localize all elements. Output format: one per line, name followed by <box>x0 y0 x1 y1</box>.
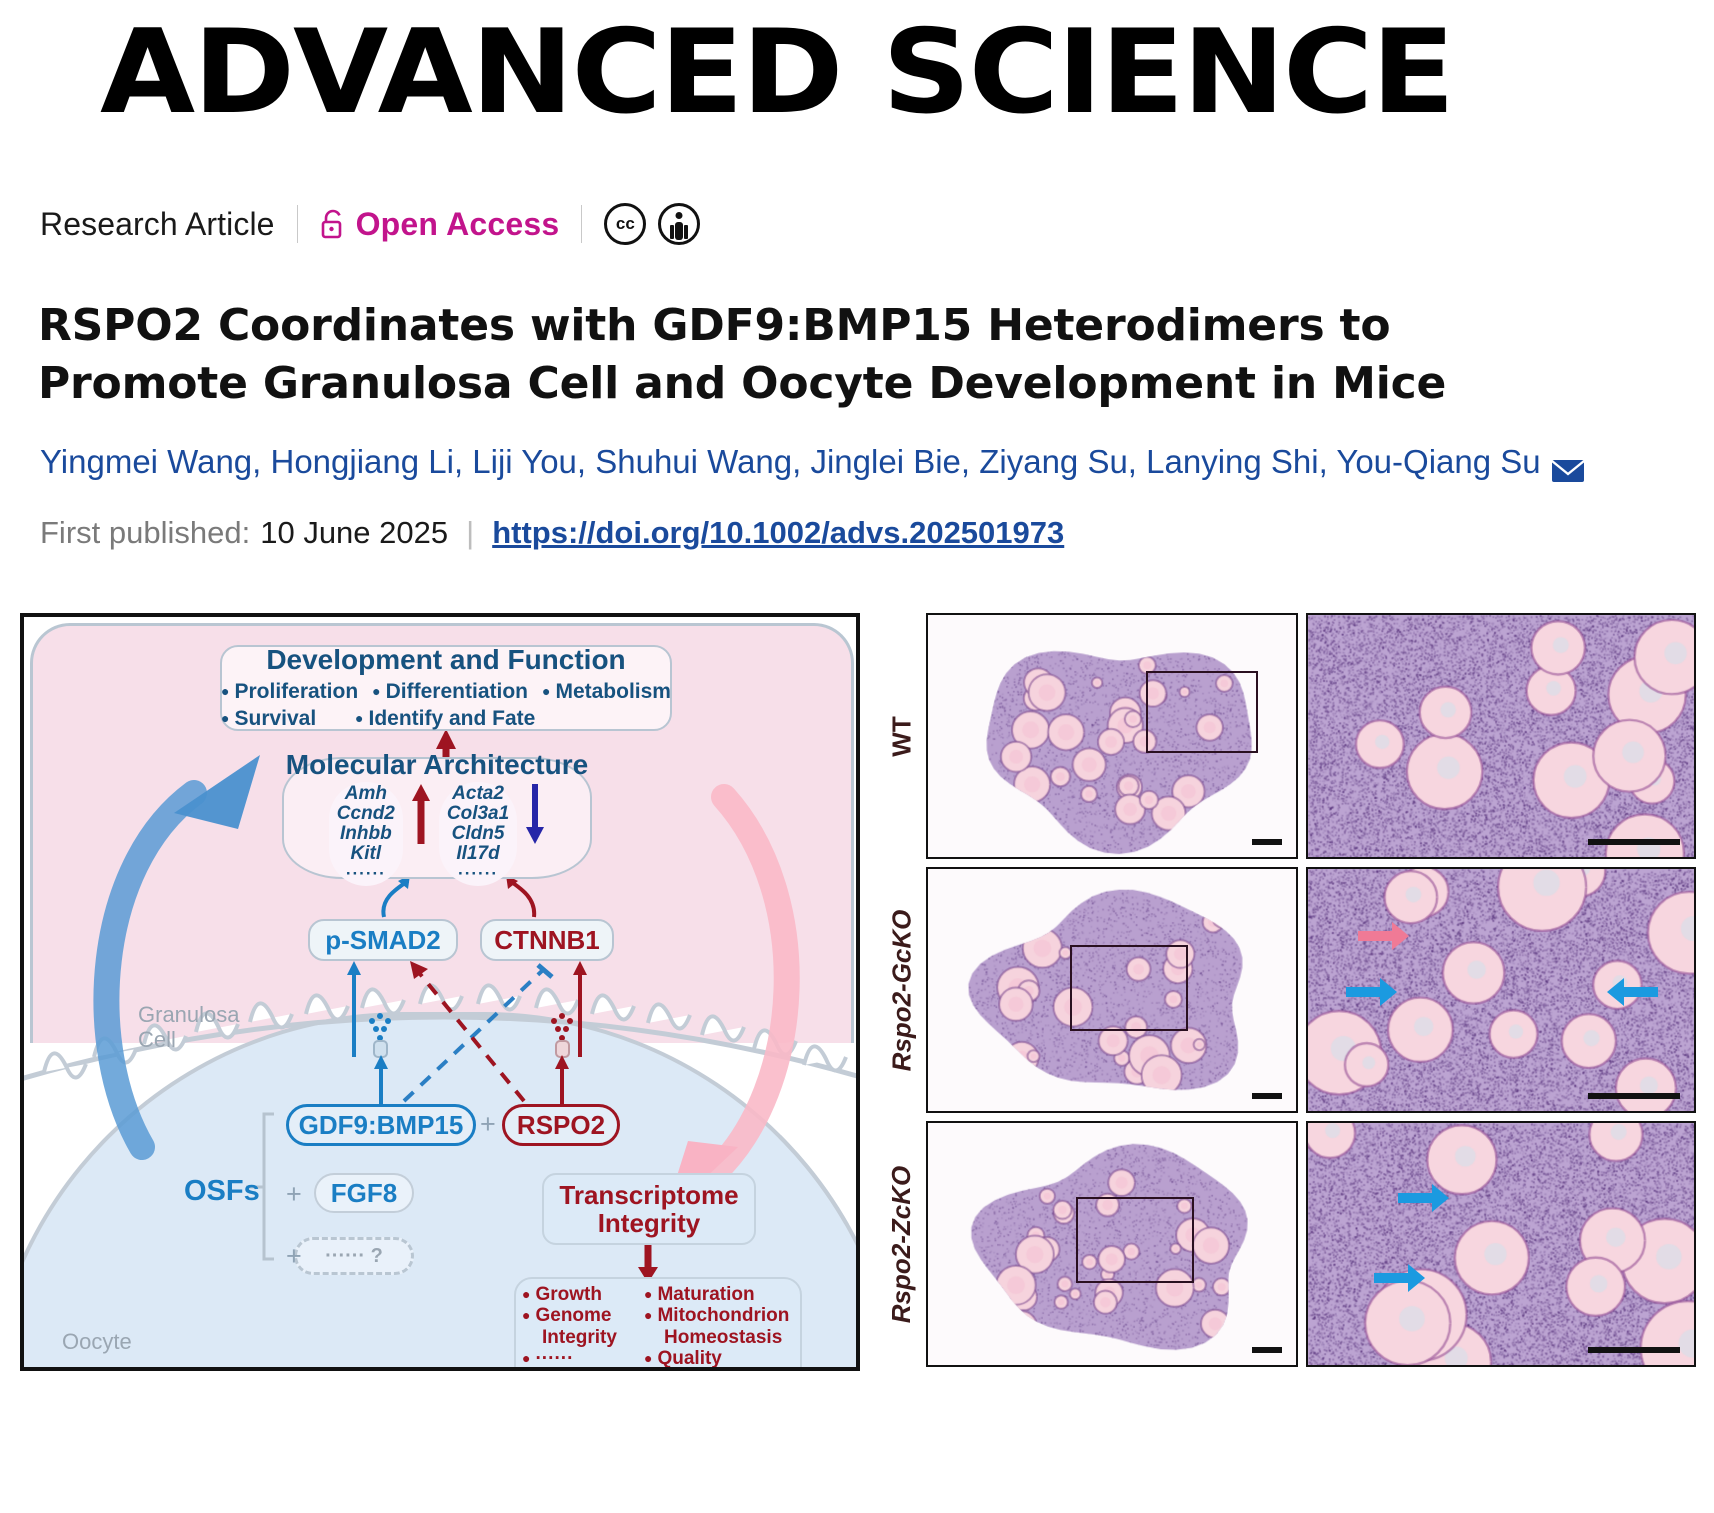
outcome-item: Mitochondrion <box>644 1305 794 1326</box>
gene-name: Kitl <box>351 844 382 864</box>
transcriptome-heading-line2: Integrity <box>598 1209 701 1237</box>
gene-name: Il17d <box>456 844 499 864</box>
histology-row-gcko: Rspo2-GcKO <box>882 867 1696 1113</box>
meta-divider-1 <box>297 205 298 243</box>
pub-divider: | <box>466 515 474 551</box>
development-item: Metabolism <box>542 679 671 704</box>
pill-fgf8: FGF8 <box>314 1173 414 1213</box>
development-function-box: Development and Function Proliferation D… <box>220 645 672 731</box>
row-label-rspo2-zcko: Rspo2-ZcKO <box>882 1121 922 1367</box>
annotation-arrows <box>1308 1123 1696 1367</box>
histology-row-wt: WT <box>882 613 1696 859</box>
upregulated-gene-column: Amh Ccnd2 Inhbb Kitl ······ <box>329 782 403 887</box>
doi-link[interactable]: https://doi.org/10.1002/advs.202501973 <box>492 515 1064 551</box>
roi-box <box>1146 671 1258 753</box>
downregulated-gene-column: Acta2 Col3a1 Cldn5 Il17d ······ <box>439 782 517 887</box>
up-arrow-red-icon <box>411 782 431 846</box>
roi-box <box>1076 1197 1194 1283</box>
journal-masthead: ADVANCED SCIENCE <box>100 8 1440 138</box>
gene-columns: Amh Ccnd2 Inhbb Kitl ······ Acta2 Col3a1… <box>329 782 545 887</box>
meta-divider-2 <box>581 205 582 243</box>
row-label-text: WT <box>887 716 918 756</box>
granulosa-cell-label: Granulosa Cell <box>138 1002 240 1053</box>
outcome-item: Quality <box>644 1348 794 1369</box>
outcome-item: ······ <box>522 1348 640 1369</box>
ovary-section-gcko-high[interactable] <box>1306 867 1696 1113</box>
development-row-1: Proliferation Differentiation Metabolism <box>221 679 671 704</box>
pill-rspo2: RSPO2 <box>502 1104 620 1146</box>
plus-sign: + <box>480 1109 496 1140</box>
development-item: Identify and Fate <box>355 706 535 731</box>
development-row-2: Survival Identify and Fate <box>221 706 671 731</box>
row-label-wt: WT <box>882 613 922 859</box>
gene-name: Cldn5 <box>452 824 505 844</box>
first-published-label: First published: <box>40 515 250 551</box>
histology-image <box>1308 615 1694 857</box>
gene-name: Acta2 <box>452 784 504 804</box>
transcriptome-integrity-box: Transcriptome Integrity <box>542 1173 756 1245</box>
outcome-item: Genome <box>522 1305 640 1326</box>
histology-panel-grid: WT Rspo2-GcKO <box>882 613 1696 1371</box>
open-access-group[interactable]: Open Access <box>320 206 560 243</box>
open-access-label: Open Access <box>356 206 560 243</box>
envelope-icon[interactable] <box>1551 450 1585 474</box>
outcomes-grid: Growth Maturation Genome Mitochondrion I… <box>522 1284 794 1369</box>
scale-bar <box>1252 1347 1282 1353</box>
annotation-arrows <box>1308 869 1696 1113</box>
scale-bar <box>1252 839 1282 845</box>
gene-ellipsis: ······ <box>458 864 498 884</box>
development-list: Proliferation Differentiation Metabolism… <box>221 679 671 731</box>
creative-commons-icon: cc <box>604 203 646 245</box>
outcome-item: Homeostasis <box>644 1327 794 1348</box>
ovary-section-zcko-low[interactable] <box>926 1121 1298 1367</box>
row-label-rspo2-gcko: Rspo2-GcKO <box>882 867 922 1113</box>
development-item: Differentiation <box>372 679 528 704</box>
outcome-item: Growth <box>522 1284 640 1305</box>
journal-title: ADVANCED SCIENCE <box>100 15 1453 131</box>
page-title: RSPO2 Coordinates with GDF9:BMP15 Hetero… <box>38 297 1518 411</box>
ovary-section-zcko-high[interactable] <box>1306 1121 1696 1367</box>
scale-bar <box>1588 839 1680 845</box>
development-item: Proliferation <box>221 679 358 704</box>
gene-ellipsis: ······ <box>346 864 386 884</box>
author-names: Yingmei Wang, Hongjiang Li, Liji You, Sh… <box>40 440 1541 485</box>
pill-gdf9-bmp15: GDF9:BMP15 <box>286 1104 476 1146</box>
osfs-label: OSFs <box>184 1175 260 1208</box>
roi-box <box>1070 945 1188 1031</box>
creative-commons-by-icon <box>658 203 700 245</box>
scale-bar <box>1588 1347 1680 1353</box>
article-type-label: Research Article <box>40 206 275 243</box>
node-psmad2: p-SMAD2 <box>308 919 458 961</box>
plus-sign: + <box>286 1241 302 1272</box>
down-arrow-blue-icon <box>525 782 545 846</box>
ovary-section-wt-high[interactable] <box>1306 613 1696 859</box>
license-icons[interactable]: cc <box>604 203 700 245</box>
scale-bar <box>1588 1093 1680 1099</box>
article-meta-row: Research Article Open Access cc <box>40 196 700 252</box>
author-list: Yingmei Wang, Hongjiang Li, Liji You, Sh… <box>40 440 1580 485</box>
granulosa-label-line2: Cell <box>138 1027 240 1052</box>
ovary-section-gcko-low[interactable] <box>926 867 1298 1113</box>
molecular-heading: Molecular Architecture <box>286 750 588 781</box>
oocyte-outcomes-box: Growth Maturation Genome Mitochondrion I… <box>514 1277 802 1371</box>
gene-name: Col3a1 <box>447 804 509 824</box>
open-lock-icon <box>320 209 346 239</box>
gene-name: Amh <box>345 784 387 804</box>
development-item: Survival <box>221 706 341 731</box>
publication-date: 10 June 2025 <box>260 515 448 551</box>
gene-name: Ccnd2 <box>337 804 395 824</box>
gene-name: Inhbb <box>340 824 392 844</box>
plus-sign: + <box>286 1179 302 1210</box>
article-page: ADVANCED SCIENCE Research Article Open A… <box>0 0 1714 1513</box>
pill-unknown-factor: ······ ? <box>294 1237 414 1275</box>
development-heading: Development and Function <box>266 645 625 676</box>
publication-info: First published: 10 June 2025 | https://… <box>40 515 1064 551</box>
transcriptome-heading-line1: Transcriptome <box>559 1181 738 1209</box>
oocyte-label: Oocyte <box>62 1329 132 1355</box>
granulosa-label-line1: Granulosa <box>138 1002 240 1027</box>
row-label-text: Rspo2-GcKO <box>887 909 918 1071</box>
node-ctnnb1: CTNNB1 <box>480 919 614 961</box>
row-label-text: Rspo2-ZcKO <box>887 1165 918 1322</box>
outcome-item: Maturation <box>644 1284 794 1305</box>
outcome-item: Integrity <box>522 1327 640 1348</box>
molecular-architecture-box: Molecular Architecture Amh Ccnd2 Inhbb K… <box>282 757 592 879</box>
ovary-section-wt-low[interactable] <box>926 613 1298 859</box>
signaling-diagram-panel: Development and Function Proliferation D… <box>20 613 860 1371</box>
scale-bar <box>1252 1093 1282 1099</box>
graphical-abstract-figure: Development and Function Proliferation D… <box>20 613 1696 1373</box>
histology-row-zcko: Rspo2-ZcKO <box>882 1121 1696 1367</box>
